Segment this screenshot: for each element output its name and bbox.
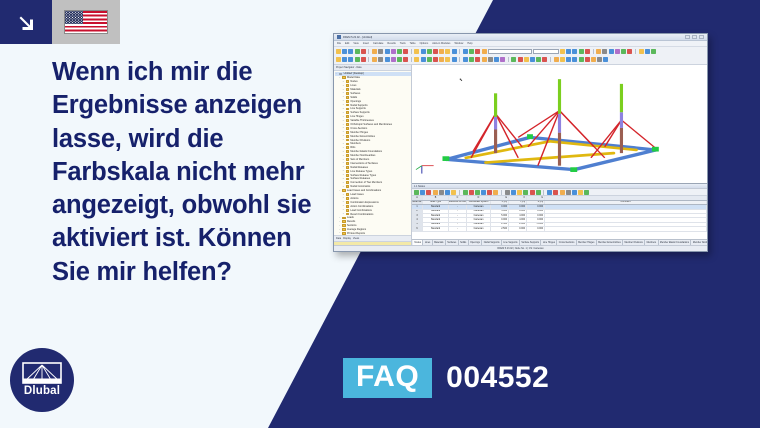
toolbar-icon-15[interactable] bbox=[433, 49, 438, 54]
language-flag-badge[interactable] bbox=[52, 0, 120, 44]
tree-item-label: Intersections of Surfaces bbox=[350, 162, 378, 165]
menu-item-options[interactable]: Options bbox=[420, 42, 429, 45]
table-cell[interactable]: 0.000 bbox=[527, 218, 545, 221]
tree-expander-icon[interactable]: + bbox=[342, 155, 345, 157]
tree-expander-icon[interactable]: + bbox=[342, 139, 345, 141]
toolbar-icon-10[interactable] bbox=[621, 49, 626, 54]
table-cell[interactable]: Standard bbox=[423, 218, 449, 221]
arrow-down-right-badge[interactable] bbox=[0, 0, 52, 44]
truss-frame-icon bbox=[22, 362, 62, 384]
table-row[interactable]: 6Standard-Cartesian2.5000.0000.000 bbox=[412, 227, 707, 231]
tree-expander-icon[interactable]: + bbox=[342, 213, 345, 215]
table-cell[interactable]: - bbox=[449, 218, 467, 221]
toolbar-icon-1[interactable] bbox=[560, 49, 565, 54]
app-icon bbox=[337, 35, 341, 39]
toolbar-separator bbox=[368, 49, 369, 54]
toolbar-icon-12[interactable] bbox=[639, 49, 644, 54]
table-grid[interactable]: ABCDEFGNode No.Node TypeReference to Nod… bbox=[412, 196, 707, 239]
folder-icon bbox=[346, 127, 350, 130]
toolbar-separator bbox=[501, 190, 502, 195]
table-cell[interactable]: C bbox=[449, 196, 467, 200]
toolbar-icon-14[interactable] bbox=[651, 49, 656, 54]
tree-expander-icon[interactable]: − bbox=[335, 73, 338, 75]
toolbar-icon-11[interactable] bbox=[627, 49, 632, 54]
tree-expander-icon[interactable]: + bbox=[342, 92, 345, 94]
toolbar-icon-19[interactable] bbox=[463, 57, 468, 62]
tree-expander-icon[interactable]: + bbox=[342, 162, 345, 164]
maximize-button[interactable] bbox=[692, 35, 697, 39]
toolbar-separator bbox=[459, 57, 460, 62]
toolbar-icon-13[interactable] bbox=[645, 49, 650, 54]
tree-expander-icon[interactable]: + bbox=[342, 116, 345, 118]
toolbar-icon-13[interactable] bbox=[421, 49, 426, 54]
table-cell[interactable]: Standard bbox=[423, 223, 449, 226]
toolbar-icon-11[interactable] bbox=[403, 49, 408, 54]
toolbar-icon-4[interactable] bbox=[579, 49, 584, 54]
toolbar-icon-24[interactable] bbox=[494, 57, 499, 62]
folder-icon bbox=[346, 131, 350, 134]
table-toolbar-icon-18[interactable] bbox=[530, 190, 535, 195]
toolbar-icon-1[interactable] bbox=[336, 49, 341, 54]
window-controls[interactable] bbox=[685, 35, 704, 39]
tree-expander-icon[interactable]: + bbox=[342, 170, 345, 172]
table-cell[interactable]: 0.000 bbox=[509, 205, 527, 208]
table-cell[interactable]: - bbox=[449, 205, 467, 208]
folder-icon bbox=[346, 154, 350, 157]
tree-expander-icon[interactable]: + bbox=[342, 112, 345, 114]
tree-expander-icon[interactable]: + bbox=[342, 104, 345, 106]
view-mode-combo[interactable] bbox=[488, 49, 532, 54]
toolbar-icon-23[interactable] bbox=[488, 57, 493, 62]
tree-item-label: Surface Release Types bbox=[350, 174, 376, 177]
toolbar-icon-29[interactable] bbox=[530, 57, 535, 62]
tree-item-label: Load Cases bbox=[350, 193, 363, 196]
toolbar-icon-7[interactable] bbox=[602, 49, 607, 54]
table-toolbar-icon-6[interactable] bbox=[445, 190, 450, 195]
table-cell[interactable]: 5.000 bbox=[491, 210, 509, 213]
menu-item-file[interactable]: File bbox=[337, 42, 341, 45]
toolbar-icon-4[interactable] bbox=[355, 49, 360, 54]
toolbar-icon-12[interactable] bbox=[414, 57, 419, 62]
table-toolbar-icon-26[interactable] bbox=[584, 190, 589, 195]
toolbar-icon-9[interactable] bbox=[615, 49, 620, 54]
navigator-tree[interactable]: −Untitled' [Desktop]−Model Data+Nodes+Li… bbox=[334, 71, 411, 235]
toolbar-separator bbox=[411, 49, 412, 54]
menu-item-table[interactable]: Table bbox=[410, 42, 416, 45]
toolbar-icon-27[interactable] bbox=[518, 57, 523, 62]
table-cell[interactable]: 0.000 bbox=[527, 214, 545, 217]
toolbar-icon-8[interactable] bbox=[385, 57, 390, 62]
toolbar-icon-4[interactable] bbox=[355, 57, 360, 62]
tree-item-label: Cross-Sections bbox=[350, 127, 367, 130]
table-toolbar-icon-2[interactable] bbox=[420, 190, 425, 195]
tree-item-label: Materials bbox=[350, 88, 360, 91]
table-cell[interactable]: Cartesian bbox=[467, 210, 491, 213]
toolbar-icon-17[interactable] bbox=[445, 49, 450, 54]
toolbar-icon-21[interactable] bbox=[475, 57, 480, 62]
table-cell[interactable] bbox=[545, 218, 707, 221]
table-cell[interactable]: Cartesian bbox=[467, 223, 491, 226]
menu-item-calculate[interactable]: Calculate bbox=[373, 42, 383, 45]
tree-item-label: Connection of Two Members bbox=[350, 181, 382, 184]
folder-icon bbox=[346, 162, 350, 165]
col-comment[interactable]: Comment bbox=[545, 201, 707, 205]
folder-icon bbox=[346, 201, 350, 204]
menu-item-edit[interactable]: Edit bbox=[345, 42, 349, 45]
toolbar-icon-37[interactable] bbox=[585, 57, 590, 62]
table-toolbar-icon-13[interactable] bbox=[493, 190, 498, 195]
toolbar-icon-2[interactable] bbox=[566, 49, 571, 54]
table-cell[interactable] bbox=[545, 205, 707, 208]
toolbar-icon-39[interactable] bbox=[597, 57, 602, 62]
tree-expander-icon[interactable]: − bbox=[338, 229, 341, 231]
tree-item-label: Loads bbox=[347, 216, 354, 219]
folder-icon bbox=[346, 205, 350, 208]
folder-icon bbox=[346, 181, 350, 184]
toolbar-icon-2[interactable] bbox=[342, 57, 347, 62]
toolbar-icon-8[interactable] bbox=[609, 49, 614, 54]
table-cell[interactable]: G bbox=[527, 196, 545, 200]
toolbar-icon-6[interactable] bbox=[596, 49, 601, 54]
table-cell[interactable]: - bbox=[449, 214, 467, 217]
col-y-m-[interactable]: Y [m] bbox=[509, 201, 527, 205]
tree-expander-icon[interactable]: + bbox=[342, 85, 345, 87]
table-cell[interactable]: -3.000 bbox=[527, 223, 545, 226]
toolbar-icon-8[interactable] bbox=[385, 49, 390, 54]
toolbar-icon-3[interactable] bbox=[572, 49, 577, 54]
tree-item-label: Line Hinges bbox=[350, 115, 363, 118]
tree-expander-icon[interactable]: + bbox=[342, 108, 345, 110]
table-cell[interactable]: 0.000 bbox=[527, 210, 545, 213]
tree-expander-icon[interactable]: + bbox=[342, 143, 345, 145]
toolbar-icon-38[interactable] bbox=[591, 57, 596, 62]
tree-expander-icon[interactable]: + bbox=[342, 81, 345, 83]
toolbar-icon-40[interactable] bbox=[603, 57, 608, 62]
table-cell[interactable]: 0.000 bbox=[527, 205, 545, 208]
table-toolbar-icon-22[interactable] bbox=[560, 190, 565, 195]
table-cell[interactable]: Standard bbox=[423, 205, 449, 208]
table-cell[interactable]: Cartesian bbox=[467, 205, 491, 208]
toolbar-icon-7[interactable] bbox=[378, 49, 383, 54]
toolbar-icon-20[interactable] bbox=[469, 49, 474, 54]
toolbar-icon-9[interactable] bbox=[391, 49, 396, 54]
menu-item-results[interactable]: Results bbox=[387, 42, 395, 45]
table-cell[interactable]: 0.000 bbox=[509, 210, 527, 213]
toolbar-icon-9[interactable] bbox=[391, 57, 396, 62]
toolbar-icon-5[interactable] bbox=[585, 49, 590, 54]
tree-expander-icon[interactable]: + bbox=[342, 174, 345, 176]
project-navigator[interactable]: Project Navigator - Data −Untitled' [Des… bbox=[334, 65, 412, 245]
tree-item-label: Member Elastic Foundations bbox=[350, 150, 382, 153]
table-toolbar-icon-17[interactable] bbox=[523, 190, 528, 195]
toolbar-icon-16[interactable] bbox=[439, 49, 444, 54]
menu-item-window[interactable]: Window bbox=[454, 42, 463, 45]
scale-combo[interactable] bbox=[533, 49, 559, 54]
folder-icon bbox=[346, 123, 350, 126]
tree-expander-icon[interactable]: + bbox=[342, 205, 345, 207]
table-toolbar-icon-3[interactable] bbox=[426, 190, 431, 195]
table-cell[interactable]: 4.000 bbox=[509, 218, 527, 221]
table-cell[interactable]: 0.000 bbox=[509, 227, 527, 230]
toolbar-icon-11[interactable] bbox=[403, 57, 408, 62]
table-cell[interactable]: 4 bbox=[412, 218, 423, 221]
table-toolbar-icon-11[interactable] bbox=[481, 190, 486, 195]
toolbar-icon-10[interactable] bbox=[397, 49, 402, 54]
table-toolbar-icon-25[interactable] bbox=[578, 190, 583, 195]
tree-item-label: Nodes bbox=[350, 80, 357, 83]
table-cell[interactable]: 2.500 bbox=[491, 223, 509, 226]
page-title: Wenn ich mir die Ergebnisse anzeigen las… bbox=[52, 56, 317, 289]
table-cell[interactable]: 0.000 bbox=[527, 227, 545, 230]
tree-item-label: Variable Thicknesses bbox=[350, 119, 374, 122]
toolbar-icon-14[interactable] bbox=[427, 49, 432, 54]
tree-expander-icon[interactable]: + bbox=[342, 166, 345, 168]
tree-expander-icon[interactable]: + bbox=[342, 131, 345, 133]
tree-expander-icon[interactable]: + bbox=[342, 159, 345, 161]
tree-expander-icon[interactable]: + bbox=[342, 120, 345, 122]
toolbar-icon-3[interactable] bbox=[348, 49, 353, 54]
toolbar-icon-33[interactable] bbox=[560, 57, 565, 62]
table-toolbar-icon-9[interactable] bbox=[469, 190, 474, 195]
table-toolbar-icon-5[interactable] bbox=[439, 190, 444, 195]
toolbar-icon-6[interactable] bbox=[372, 49, 377, 54]
toolbar-separator bbox=[459, 49, 460, 54]
table-cell[interactable]: 1 bbox=[412, 205, 423, 208]
toolbar-icon-16[interactable] bbox=[439, 57, 444, 62]
table-cell[interactable]: Standard bbox=[423, 214, 449, 217]
toolbar-icon-2[interactable] bbox=[342, 49, 347, 54]
toolbar-icon-5[interactable] bbox=[361, 49, 366, 54]
menu-item-view[interactable]: View bbox=[353, 42, 358, 45]
table-toolbar-icon-1[interactable] bbox=[414, 190, 419, 195]
toolbar-icon-7[interactable] bbox=[378, 57, 383, 62]
table-cell[interactable]: - bbox=[449, 223, 467, 226]
toolbar-icon-6[interactable] bbox=[372, 57, 377, 62]
tree-item-label: Result Combinations bbox=[350, 213, 373, 216]
toolbar-icon-28[interactable] bbox=[524, 57, 529, 62]
table-toolbar-icon-10[interactable] bbox=[475, 190, 480, 195]
col-node-no-[interactable]: Node No. bbox=[412, 201, 423, 205]
minimize-button[interactable] bbox=[685, 35, 690, 39]
folder-icon bbox=[346, 119, 350, 122]
table-toolbar[interactable] bbox=[412, 189, 707, 196]
toolbar-icon-5[interactable] bbox=[361, 57, 366, 62]
tree-expander-icon[interactable]: + bbox=[342, 201, 345, 203]
tree-expander-icon[interactable]: + bbox=[342, 182, 345, 184]
navigator-tab-display[interactable]: Display bbox=[343, 237, 351, 240]
tree-item-label: Openings bbox=[350, 100, 361, 103]
tree-expander-icon[interactable]: + bbox=[342, 100, 345, 102]
toolbar-icon-18[interactable] bbox=[452, 49, 457, 54]
toolbar-icon-17[interactable] bbox=[445, 57, 450, 62]
tree-item-label: Results bbox=[347, 220, 355, 223]
toolbar-row-1[interactable] bbox=[336, 48, 705, 55]
menu-item-add-on-modules[interactable]: Add-on Modules bbox=[432, 42, 450, 45]
pointer-icon: ⬉ bbox=[459, 77, 462, 82]
toolbar-icon-1[interactable] bbox=[336, 57, 341, 62]
col-z-m-[interactable]: Z [m] bbox=[527, 201, 545, 205]
table-toolbar-icon-24[interactable] bbox=[572, 190, 577, 195]
toolbar-icon-19[interactable] bbox=[463, 49, 468, 54]
table-toolbar-icon-14[interactable] bbox=[505, 190, 510, 195]
table-toolbar-icon-8[interactable] bbox=[463, 190, 468, 195]
toolbar-icon-34[interactable] bbox=[566, 57, 571, 62]
tree-expander-icon[interactable]: + bbox=[342, 186, 345, 188]
toolbar-icon-31[interactable] bbox=[542, 57, 547, 62]
toolbar-icon-12[interactable] bbox=[414, 49, 419, 54]
work-area: Project Navigator - Data −Untitled' [Des… bbox=[334, 65, 707, 245]
navigator-tab-views[interactable]: Views bbox=[353, 237, 359, 240]
tree-expander-icon[interactable]: − bbox=[338, 190, 341, 192]
menu-item-tools[interactable]: Tools bbox=[400, 42, 406, 45]
toolbar-icon-32[interactable] bbox=[554, 57, 559, 62]
table-cell[interactable]: A bbox=[412, 196, 423, 200]
dlubal-logo: Dlubal bbox=[10, 348, 74, 412]
logo-text: Dlubal bbox=[24, 386, 60, 398]
main-toolbar[interactable] bbox=[334, 47, 707, 65]
tree-expander-icon[interactable]: + bbox=[342, 197, 345, 199]
menu-item-help[interactable]: Help bbox=[467, 42, 472, 45]
axis-triad bbox=[416, 166, 434, 174]
tree-expander-icon[interactable]: − bbox=[338, 217, 341, 219]
table-cell[interactable]: - bbox=[449, 210, 467, 213]
table-cell[interactable] bbox=[545, 210, 707, 213]
table-cell[interactable]: 2.000 bbox=[509, 223, 527, 226]
table-toolbar-icon-15[interactable] bbox=[511, 190, 516, 195]
toolbar-icon-10[interactable] bbox=[397, 57, 402, 62]
table-toolbar-icon-4[interactable] bbox=[433, 190, 438, 195]
tree-item-label: Load Combinations bbox=[350, 209, 372, 212]
slide-canvas: Wenn ich mir die Ergebnisse anzeigen las… bbox=[0, 0, 760, 428]
faq-label: FAQ bbox=[343, 358, 432, 398]
tree-item-label: Member Nonlinearities bbox=[350, 154, 375, 157]
tree-expander-icon[interactable]: − bbox=[338, 221, 341, 223]
toolbar-icon-22[interactable] bbox=[482, 49, 487, 54]
table-cell[interactable]: 3 bbox=[412, 214, 423, 217]
toolbar-icon-21[interactable] bbox=[475, 49, 480, 54]
tree-expander-icon[interactable]: + bbox=[342, 135, 345, 137]
tree-item-label: Line Supports bbox=[350, 107, 365, 110]
table-panel[interactable]: 1.1 Nodes ABCDEFGNode No.Node TypeRefere… bbox=[412, 183, 707, 245]
table-cell[interactable]: F bbox=[509, 196, 527, 200]
table-cell[interactable]: 2.500 bbox=[491, 227, 509, 230]
navigator-tab-data[interactable]: Data bbox=[336, 237, 341, 240]
us-flag-icon bbox=[64, 10, 108, 34]
toolbar-row-2[interactable] bbox=[336, 56, 705, 63]
table-cell[interactable]: 5 bbox=[412, 223, 423, 226]
toolbar-icon-35[interactable] bbox=[572, 57, 577, 62]
model-viewport[interactable]: ⬉ bbox=[412, 65, 707, 183]
table-cell[interactable] bbox=[545, 214, 707, 217]
folder-icon bbox=[346, 174, 350, 177]
tree-expander-icon[interactable]: + bbox=[342, 147, 345, 149]
table-cell[interactable]: 5.000 bbox=[491, 214, 509, 217]
menu-item-insert[interactable]: Insert bbox=[363, 42, 369, 45]
table-cell[interactable]: 2 bbox=[412, 210, 423, 213]
toolbar-icon-14[interactable] bbox=[427, 57, 432, 62]
close-button[interactable] bbox=[699, 35, 704, 39]
status-bar: RFEM 5.23.02 | Node No. 1 | CS: Cartesia… bbox=[334, 245, 707, 251]
tree-item-label: Load Cases and Combinations bbox=[347, 189, 381, 192]
tree-expander-icon[interactable]: + bbox=[342, 209, 345, 211]
tree-expander-icon[interactable]: + bbox=[342, 194, 345, 196]
col-x-m-[interactable]: X [m] bbox=[491, 201, 509, 205]
tree-expander-icon[interactable]: + bbox=[342, 127, 345, 129]
table-toolbar-icon-7[interactable] bbox=[451, 190, 456, 195]
rfem-application-window[interactable]: RFEM 5.23.02 - [Untitled] FileEditViewIn… bbox=[333, 33, 708, 252]
table-toolbar-icon-23[interactable] bbox=[566, 190, 571, 195]
toolbar-icon-30[interactable] bbox=[536, 57, 541, 62]
window-titlebar[interactable]: RFEM 5.23.02 - [Untitled] bbox=[334, 34, 707, 41]
table-cell[interactable]: 6 bbox=[412, 227, 423, 230]
table-cell[interactable] bbox=[545, 223, 707, 226]
tree-item-label: Surface Supports bbox=[350, 111, 369, 114]
tree-expander-icon[interactable]: + bbox=[342, 89, 345, 91]
toolbar-icon-18[interactable] bbox=[452, 57, 457, 62]
tree-expander-icon[interactable]: + bbox=[342, 178, 345, 180]
toolbar-icon-3[interactable] bbox=[348, 57, 353, 62]
table-cell[interactable]: 0.000 bbox=[491, 218, 509, 221]
table-cell[interactable]: 0.000 bbox=[491, 205, 509, 208]
table-toolbar-icon-19[interactable] bbox=[536, 190, 541, 195]
structural-model-3d bbox=[412, 65, 707, 183]
col-reference-to-node[interactable]: Reference to Node bbox=[449, 201, 467, 205]
table-cell[interactable]: E bbox=[491, 196, 509, 200]
table-cell[interactable]: Standard bbox=[423, 227, 449, 230]
folder-icon bbox=[346, 193, 350, 196]
tree-expander-icon[interactable]: + bbox=[342, 124, 345, 126]
folder-icon bbox=[342, 76, 346, 79]
table-cell[interactable]: Standard bbox=[423, 210, 449, 213]
table-cell[interactable] bbox=[545, 196, 707, 200]
table-toolbar-icon-16[interactable] bbox=[517, 190, 522, 195]
toolbar-separator bbox=[508, 57, 509, 62]
toolbar-icon-26[interactable] bbox=[511, 57, 516, 62]
table-toolbar-icon-12[interactable] bbox=[487, 190, 492, 195]
toolbar-icon-20[interactable] bbox=[469, 57, 474, 62]
toolbar-icon-22[interactable] bbox=[482, 57, 487, 62]
toolbar-icon-13[interactable] bbox=[421, 57, 426, 62]
folder-icon bbox=[346, 111, 350, 114]
toolbar-icon-36[interactable] bbox=[579, 57, 584, 62]
toolbar-icon-25[interactable] bbox=[500, 57, 505, 62]
toolbar-separator bbox=[368, 57, 369, 62]
table-cell[interactable]: 4.000 bbox=[509, 214, 527, 217]
table-cell[interactable]: Cartesian bbox=[467, 218, 491, 221]
col-node-type[interactable]: Node Type bbox=[423, 201, 449, 205]
col-coordinate-system[interactable]: Coordinate System bbox=[467, 201, 491, 205]
tree-expander-icon[interactable]: − bbox=[338, 225, 341, 227]
tree-expander-icon[interactable]: − bbox=[338, 77, 341, 79]
folder-icon bbox=[346, 158, 350, 161]
table-toolbar-icon-20[interactable] bbox=[547, 190, 552, 195]
folder-icon bbox=[346, 170, 350, 173]
table-cell[interactable]: - bbox=[449, 227, 467, 230]
table-toolbar-icon-21[interactable] bbox=[553, 190, 558, 195]
tree-expander-icon[interactable]: + bbox=[342, 151, 345, 153]
tree-expander-icon[interactable]: + bbox=[342, 96, 345, 98]
table-cell[interactable]: D bbox=[467, 196, 491, 200]
table-cell[interactable] bbox=[545, 227, 707, 230]
table-cell[interactable]: Cartesian bbox=[467, 214, 491, 217]
toolbar-icon-15[interactable] bbox=[433, 57, 438, 62]
table-cell[interactable]: B bbox=[423, 196, 449, 200]
toolbar-separator bbox=[543, 190, 544, 195]
folder-icon bbox=[346, 84, 350, 87]
folder-icon bbox=[346, 185, 350, 188]
tree-item-label: Solids bbox=[350, 96, 357, 99]
table-cell[interactable]: Cartesian bbox=[467, 227, 491, 230]
